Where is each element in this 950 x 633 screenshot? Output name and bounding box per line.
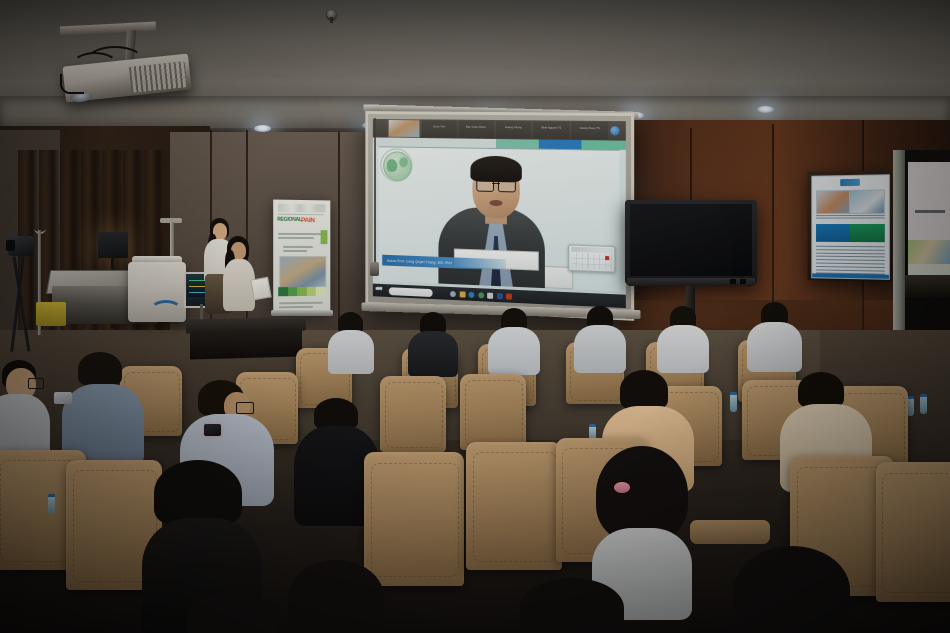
banner-title: REGIONAL PAIN [277,217,326,229]
speaker-hair [470,156,521,183]
poster-footer-strip [812,273,889,278]
participant-tile[interactable]: Minh Nguyet TS Hoi Gay Me Hoi Suc [533,121,569,139]
poster-panel-blue [816,224,850,242]
poster-photo [816,190,851,214]
upholstered-auditorium-chair[interactable] [364,452,464,586]
chair-armrest [690,520,770,544]
powerpoint-icon[interactable] [506,293,512,299]
chrome-icon[interactable] [478,292,484,298]
smartphone[interactable] [204,424,221,436]
folder-icon[interactable] [459,291,465,297]
upholstered-auditorium-chair[interactable] [466,442,562,570]
screen-pull-cord [374,118,376,268]
banner-photo [279,256,326,288]
hospital-logo [840,179,860,186]
upholstered-auditorium-chair[interactable] [380,376,446,452]
poster-panel-green [850,224,885,242]
start-icon[interactable] [376,287,383,294]
bottled-water [907,396,914,416]
banner-colour-swatches [278,287,325,296]
sharps-waste-bin [36,302,66,326]
sponsor-logos [278,204,325,213]
bottled-water [48,494,55,514]
studio-light-on-stand [98,232,128,258]
projector-cable [86,46,144,76]
active-speaker-stage: Assoc.Prof. Cong Quyet Thang, MD, PhD [378,146,619,291]
projector-cable [60,74,84,94]
word-icon[interactable] [496,293,502,299]
recessed-downlight [757,106,774,113]
camera-lens [6,240,15,251]
conference-room-photo: Quoc Viet Cam Ranh Hospital Bac Chan Nhi… [0,0,950,633]
participant-tile[interactable]: Bac Chan Nhien Trung tam Y te [459,121,494,138]
participant-tile[interactable]: Hoang Khong BV Viet Duc Hospital [496,121,532,138]
upholstered-auditorium-chair[interactable] [876,462,950,602]
participant-tile[interactable]: Hoang Dung TS Benh vien TW [571,122,608,140]
cortana-icon[interactable] [450,290,456,296]
television-port [730,279,736,284]
banner-base-foot [271,310,333,316]
screen-pull-cord-grip[interactable] [370,262,379,276]
corridor-counter [905,275,950,297]
eyeglasses [28,378,44,389]
corridor-poster-image [908,240,950,264]
roll-up-standee-banner: REGIONAL PAIN [273,200,330,313]
participant-avatar[interactable] [610,126,619,135]
framed-health-information-poster [807,170,891,282]
banner-accent-block [321,230,328,244]
poster-photo [849,189,885,214]
globe-logo [383,151,411,181]
pink-hair-tie [614,482,630,493]
projection-screen: Quoc Viet Cam Ranh Hospital Bac Chan Nhi… [365,111,634,321]
on-screen-keyboard-panel[interactable] [568,244,615,272]
corridor-poster-text [915,210,945,213]
presenter-desk-front [190,329,302,360]
speaker-mouth [490,200,503,206]
recessed-downlight [254,125,271,132]
printed-handouts [250,277,271,301]
television-screen [630,204,752,276]
breathing-circuit-tube [150,300,182,320]
taskbar-search-input[interactable] [389,287,433,297]
upholstered-auditorium-chair[interactable] [460,374,526,450]
bottled-water [730,392,737,412]
mail-icon[interactable] [487,292,493,298]
fire-sprinkler-head [327,10,336,19]
participant-tile[interactable]: Quoc Viet Cam Ranh Hospital [422,120,457,137]
smartphone[interactable] [54,392,72,404]
eyeglasses [236,402,254,414]
video-conference-app: Quoc Viet Cam Ranh Hospital Bac Chan Nhi… [373,119,626,308]
television-port [740,279,746,284]
self-view-thumbnail[interactable] [388,119,420,138]
bottled-water [920,394,927,414]
edge-icon[interactable] [469,291,475,297]
